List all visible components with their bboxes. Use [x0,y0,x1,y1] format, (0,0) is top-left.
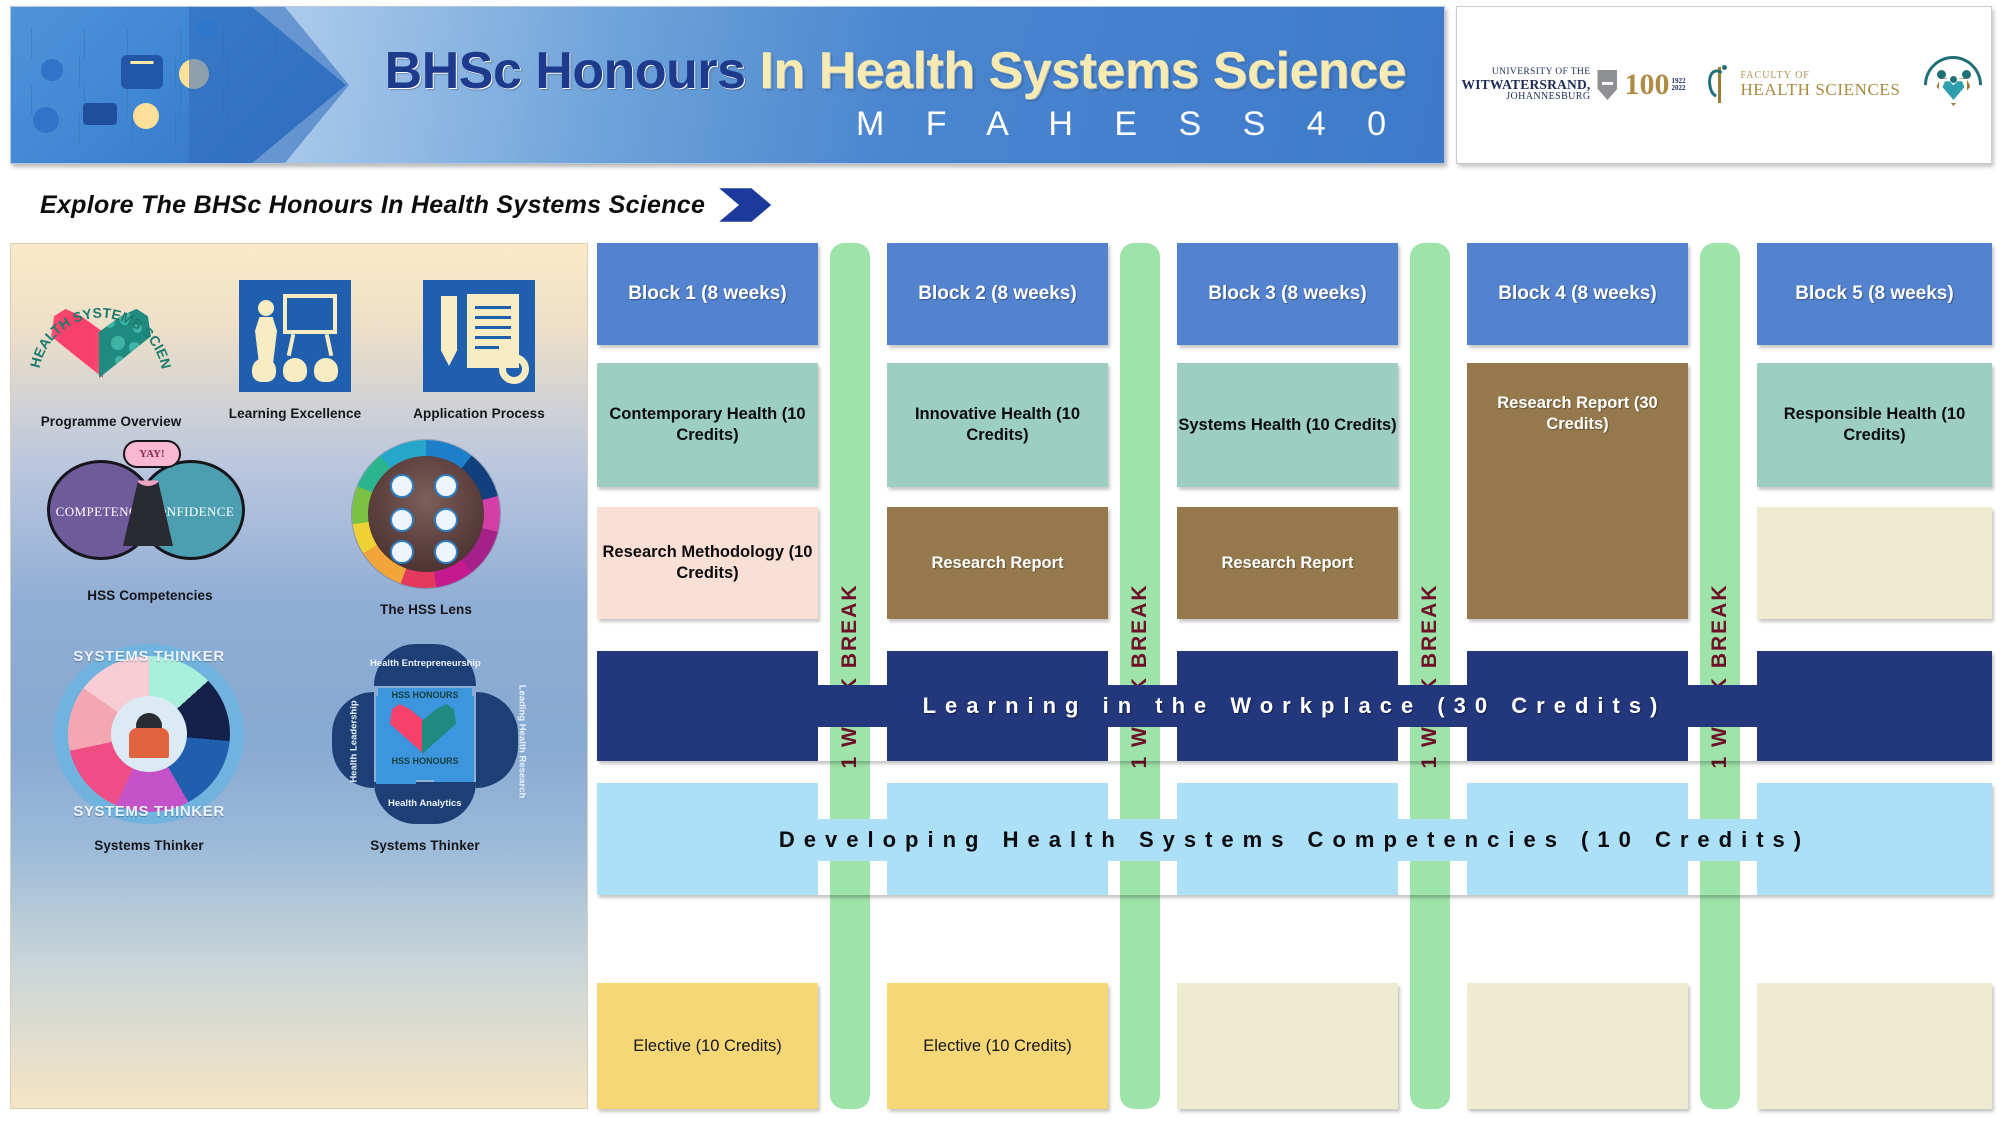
block-1-course[interactable]: Contemporary Health (10 Credits) [597,363,818,487]
learning-in-workplace-banner[interactable]: Learning in the Workplace (30 Credits) [597,651,1992,761]
centenary-to: 2022 [1671,84,1685,92]
sidebar-item-learning-excellence[interactable]: Learning Excellence [209,280,381,421]
competence-confidence-icon: COMPETENCE CONFIDENCE YAY! [45,444,255,574]
hss-honours-quadrant-icon: HSS HONOURS HSS HONOURS Health Entrepren… [330,644,520,824]
svg-text:HEALTH SYSTEMS SCIENCE: HEALTH SYSTEMS SCIENCE [25,280,175,370]
block-5-header[interactable]: Block 5 (8 weeks) [1757,243,1992,345]
yay-speech-bubble: YAY! [123,440,181,468]
systems-thinker-wheel-icon: SYSTEMS THINKER SYSTEMS THINKER [54,644,244,824]
page-title: BHSc Honours In Health Systems Science [331,41,1406,101]
medical-bag-icon [121,55,163,89]
hss-heart-logo-icon: HEALTH SYSTEMS SCIENCE [25,280,197,400]
family-medicine-primary-care-logo [1920,52,1986,118]
wits-logo-text: UNIVERSITY OF THE WITWATERSRAND, JOHANNE… [1462,68,1591,103]
sidebar-item-hss-honours-quadrant[interactable]: HSS HONOURS HSS HONOURS Health Entrepren… [297,644,553,853]
header-wedge [189,7,349,163]
presenter-board-icon [239,280,351,392]
wits-shield-icon [1597,70,1617,100]
bulb-heart-icon [133,103,159,129]
header-title-wrap: BHSc Honours In Health Systems Science M… [331,7,1424,163]
block-5-module-2-empty[interactable] [1757,507,1992,619]
quadrant-right-label: Leading Health Research [516,685,527,799]
sidebar-label-hss-competencies: HSS Competencies [25,588,275,603]
location-pin-icon [33,107,59,133]
sidebar-label-learning-excellence: Learning Excellence [209,406,381,421]
block-4-header[interactable]: Block 4 (8 weeks) [1467,243,1688,345]
sidebar-item-systems-thinker-roles[interactable]: SYSTEMS THINKER SYSTEMS THINKER Systems … [21,644,277,853]
sidebar-item-application-process[interactable]: Application Process [393,280,565,421]
explore-row[interactable]: Explore The BHSc Honours In Health Syste… [40,184,771,226]
sidebar-item-programme-overview[interactable]: HEALTH SYSTEMS SCIENCE Programme Overvie… [25,280,197,429]
caduceus-icon [1705,65,1733,105]
wits-logo: UNIVERSITY OF THE WITWATERSRAND, JOHANNE… [1462,68,1686,103]
sidebar-label-hss-lens: The HSS Lens [301,602,551,617]
block-3-elective-empty[interactable] [1177,983,1398,1109]
quadrant-center-top-label: HSS HONOURS [382,690,468,700]
chevron-right-icon[interactable] [719,185,771,225]
learning-in-workplace-label: Learning in the Workplace (30 Credits) [597,685,1992,727]
title-part-cream: In Health Systems Science [760,42,1406,100]
block-3-course[interactable]: Systems Health (10 Credits) [1177,363,1398,487]
sidebar-item-hss-competencies[interactable]: COMPETENCE CONFIDENCE YAY! HSS Competenc… [25,444,275,603]
block-1-module-2[interactable]: Research Methodology (10 Credits) [597,507,818,619]
institution-logos: UNIVERSITY OF THE WITWATERSRAND, JOHANNE… [1456,6,1992,164]
block-5-course[interactable]: Responsible Health (10 Credits) [1757,363,1992,487]
systems-thinker-bottom-label: SYSTEMS THINKER [54,803,244,820]
systems-thinker-top-label: SYSTEMS THINKER [54,648,244,665]
quadrant-center-bottom-label: HSS HONOURS [382,756,468,766]
faculty-logo-text: FACULTY OF HEALTH SCIENCES [1740,71,1900,99]
block-2-header[interactable]: Block 2 (8 weeks) [887,243,1108,345]
block-2-elective[interactable]: Elective (10 Credits) [887,983,1108,1109]
block-2-course[interactable]: Innovative Health (10 Credits) [887,363,1108,487]
laptop-icon [83,103,117,125]
block-3-module-2[interactable]: Research Report [1177,507,1398,619]
document-pen-gear-icon [423,280,535,392]
hss-lens-wheel-icon [352,440,500,588]
centenary-number: 100 [1624,70,1669,100]
block-1-elective[interactable]: Elective (10 Credits) [597,983,818,1109]
block-5-elective-empty[interactable] [1757,983,1992,1109]
block-2-module-2[interactable]: Research Report [887,507,1108,619]
block-4-elective-empty[interactable] [1467,983,1688,1109]
faculty-of-health-sciences-logo: FACULTY OF HEALTH SCIENCES [1705,65,1900,105]
sidebar-label-application-process: Application Process [393,406,565,421]
sidebar-label-programme-overview: Programme Overview [25,414,197,429]
wits-line-2: WITWATERSRAND, [1462,78,1591,92]
developing-competencies-banner[interactable]: Developing Health Systems Competencies (… [597,783,1992,895]
sidebar-item-hss-lens[interactable]: The HSS Lens [301,440,551,617]
curriculum-grid: Block 1 (8 weeks) Contemporary Health (1… [597,243,1992,1109]
developing-competencies-label: Developing Health Systems Competencies (… [597,819,1992,861]
quadrant-bottom-label: Health Analytics [388,798,462,809]
gear-icon [41,59,63,81]
centenary-years: 1922 2022 [1671,78,1685,93]
title-part-dark: BHSc Honours [385,42,746,100]
block-1-header[interactable]: Block 1 (8 weeks) [597,243,818,345]
header-banner: BHSc Honours In Health Systems Science M… [10,6,1445,164]
hss-logo-arc-text: HEALTH SYSTEMS SCIENCE [25,280,175,400]
sidebar-panel: HEALTH SYSTEMS SCIENCE Programme Overvie… [10,243,588,1109]
explore-label: Explore The BHSc Honours In Health Syste… [40,191,705,220]
sidebar-label-systems-thinker-1: Systems Thinker [21,838,277,853]
quadrant-left-label: Health Leadership [349,700,360,782]
centenary-logo: 100 1922 2022 [1624,70,1685,100]
block-4-research-report[interactable]: Research Report (30 Credits) [1467,363,1688,619]
course-code: M F A H E S S 4 0 [331,105,1402,144]
faculty-line-2: HEALTH SCIENCES [1740,81,1900,99]
block-3-header[interactable]: Block 3 (8 weeks) [1177,243,1398,345]
quadrant-top-label: Health Entrepreneurship [370,658,481,669]
sidebar-label-systems-thinker-2: Systems Thinker [297,838,553,853]
wits-line-3: JOHANNESBURG [1462,92,1591,103]
